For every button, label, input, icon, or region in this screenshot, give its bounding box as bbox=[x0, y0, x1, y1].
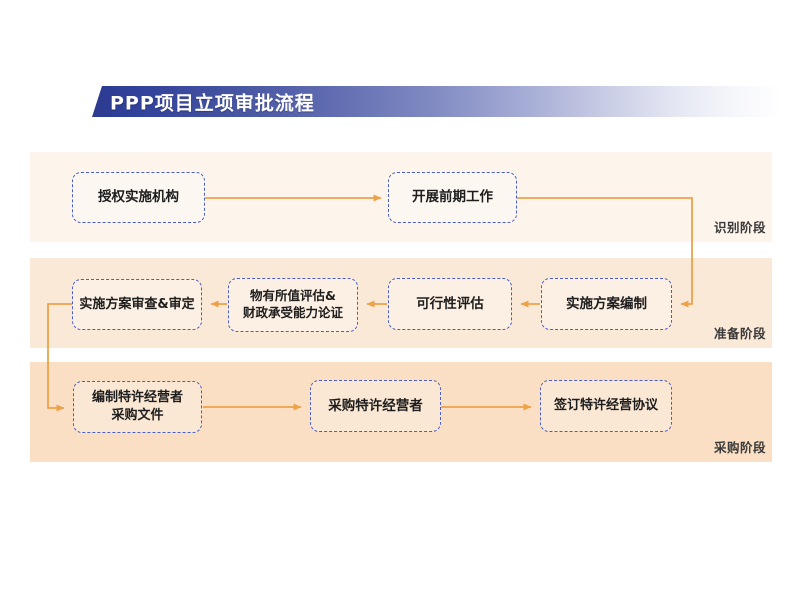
node-sign-agreement[interactable]: 签订特许经营协议 bbox=[540, 380, 672, 432]
node-procure-operator[interactable]: 采购特许经营者 bbox=[310, 380, 441, 432]
node-vfm-fiscal[interactable]: 物有所值评估& 财政承受能力论证 bbox=[228, 278, 358, 332]
node-authorize-agency[interactable]: 授权实施机构 bbox=[72, 172, 205, 223]
stage-label-prepare: 准备阶段 bbox=[714, 323, 766, 342]
node-feasibility[interactable]: 可行性评估 bbox=[388, 278, 512, 330]
node-preliminary-work[interactable]: 开展前期工作 bbox=[388, 172, 517, 223]
node-plan-drafting[interactable]: 实施方案编制 bbox=[541, 278, 672, 330]
stage-label-identify: 识别阶段 bbox=[714, 217, 766, 236]
diagram-canvas: PPP项目立项审批流程 识别阶段 准备阶段 采购阶段 bbox=[0, 0, 800, 600]
page-title-banner: PPP项目立项审批流程 bbox=[92, 86, 782, 117]
page-title: PPP项目立项审批流程 bbox=[110, 88, 315, 115]
node-plan-review-approve[interactable]: 实施方案审查&审定 bbox=[72, 279, 202, 330]
stage-label-procure: 采购阶段 bbox=[714, 437, 766, 456]
node-procurement-docs[interactable]: 编制特许经营者 采购文件 bbox=[73, 381, 202, 433]
